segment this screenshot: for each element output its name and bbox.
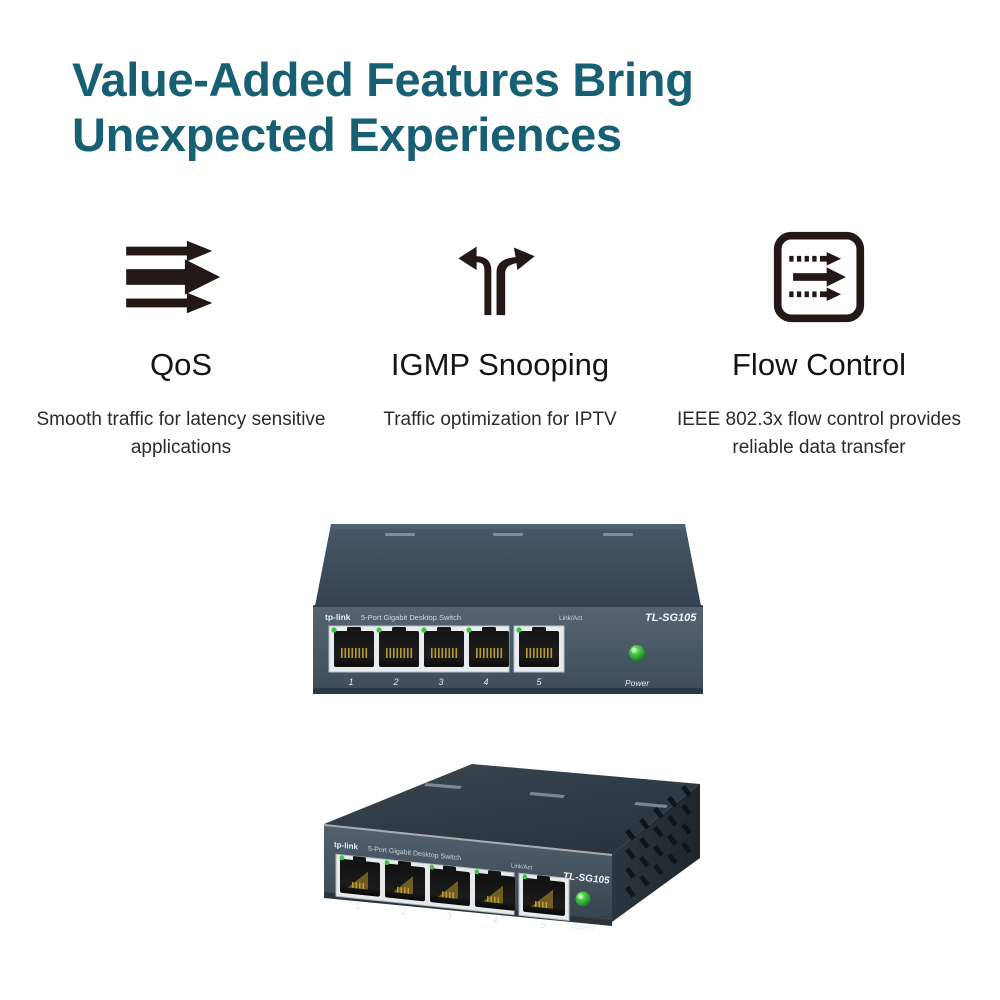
port-number-angled-1: 1 (355, 901, 360, 911)
feature-item-flow-control: Flow Control IEEE 802.3x flow control pr… (660, 228, 978, 461)
power-led-angled (576, 892, 591, 907)
power-label-front: Power (625, 678, 650, 688)
product-tagline-front: 5-Port Gigabit Desktop Switch (361, 613, 461, 622)
product-model-front: TL-SG105 (645, 612, 697, 624)
three-arrows-icon (122, 228, 240, 326)
port-led-4 (466, 627, 471, 632)
rj45-port-2 (376, 627, 419, 667)
product-brand-front: tp-link (325, 612, 351, 622)
page-title-line-1: Value-Added Features Bring (72, 52, 932, 107)
port-number-3: 3 (438, 677, 443, 687)
port-number-angled-5: 5 (540, 920, 546, 930)
product-linkact-label-front: Link/Act (559, 615, 582, 622)
port-led-3 (421, 627, 426, 632)
feature-item-qos: QoS Smooth traffic for latency sensitive… (22, 228, 340, 461)
feature-item-igmp-snooping: IGMP Snooping Traffic optimization for I… (341, 228, 659, 434)
rj45-port-1 (331, 627, 374, 667)
port-number-angled-4: 4 (492, 915, 497, 925)
rj45-port-3 (421, 627, 464, 667)
framed-flow-arrows-icon (771, 228, 867, 326)
feature-title-qos: QoS (150, 348, 212, 382)
feature-title-flow-control: Flow Control (732, 348, 906, 382)
power-label-angled: Power (571, 922, 596, 932)
port-number-1: 1 (348, 677, 353, 687)
port-number-angled-3: 3 (446, 911, 451, 921)
product-image-angled-view: tp-link 5-Port Gigabit Desktop Switch Li… (276, 748, 726, 953)
rj45-port-5 (516, 627, 559, 667)
feature-title-igmp-snooping: IGMP Snooping (391, 348, 609, 382)
rj45-port-4 (466, 627, 509, 667)
page-title-line-2: Unexpected Experiences (72, 107, 932, 162)
port-led-1 (331, 627, 336, 632)
port-number-4: 4 (483, 677, 488, 687)
power-led-front (629, 645, 645, 661)
port-group-front (329, 626, 564, 672)
feature-list: QoS Smooth traffic for latency sensitive… (0, 228, 1000, 461)
feature-description-igmp-snooping: Traffic optimization for IPTV (383, 406, 616, 434)
port-led-2 (376, 627, 381, 632)
feature-description-flow-control: IEEE 802.3x flow control provides reliab… (669, 406, 969, 461)
branching-arrows-icon (448, 228, 552, 326)
port-led-5 (516, 627, 521, 632)
port-number-2: 2 (392, 677, 398, 687)
feature-description-qos: Smooth traffic for latency sensitive app… (31, 406, 331, 461)
product-image-front-view: tp-link 5-Port Gigabit Desktop Switch Li… (297, 516, 717, 706)
page-title: Value-Added Features Bring Unexpected Ex… (72, 52, 932, 163)
port-number-angled-2: 2 (400, 906, 406, 916)
